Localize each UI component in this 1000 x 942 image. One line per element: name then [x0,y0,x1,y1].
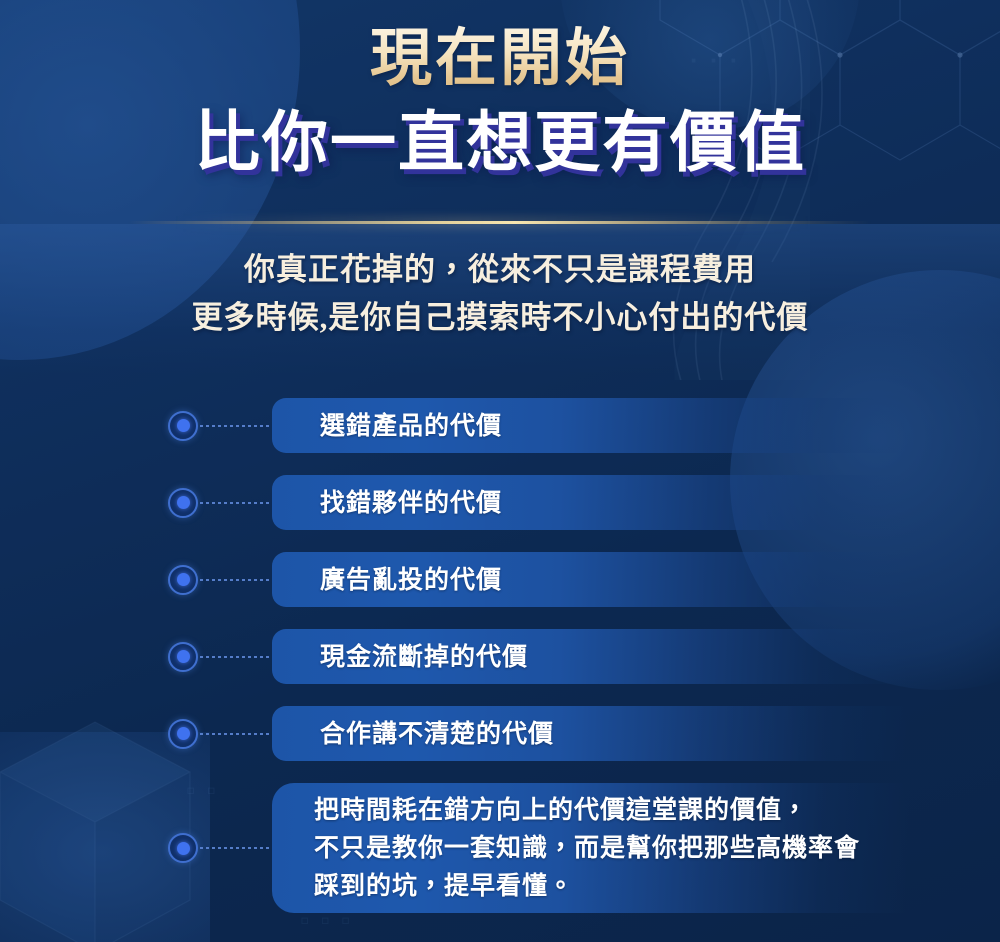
bullet-dot-icon [168,719,198,749]
connector-line [200,733,272,735]
connector-line [200,847,272,849]
connector-line [200,502,272,504]
list-item-pill[interactable]: 廣告亂投的代價 [272,552,926,607]
bullet-dot-icon [168,642,198,672]
connector-line [200,425,272,427]
bullet-dot-icon [168,565,198,595]
subheadline-line-2: 更多時候,是你自己摸索時不小心付出的代價 [0,294,1000,342]
list-item-pill[interactable]: 現金流斷掉的代價 [272,629,926,684]
cost-list: 選錯產品的代價 找錯夥伴的代價 廣告亂投的代價 現金流斷掉的代價 [0,398,1000,913]
list-item: 廣告亂投的代價 [0,552,1000,607]
list-item: 合作講不清楚的代價 [0,706,1000,761]
headline-white-line: 比你一直想更有價值 [0,102,1000,182]
list-item-label: 合作講不清楚的代價 [272,717,554,751]
bullet-dot-icon [168,411,198,441]
subheadline-block: 你真正花掉的，從來不只是課程費用 更多時候,是你自己摸索時不小心付出的代價 [0,246,1000,342]
bullet-dot-icon [168,833,198,863]
divider-glow [128,216,872,229]
bullet-dot-icon [168,488,198,518]
list-item: 找錯夥伴的代價 [0,475,1000,530]
list-item-label: 廣告亂投的代價 [272,563,502,597]
connector-line [200,656,272,658]
list-item: 選錯產品的代價 [0,398,1000,453]
list-item-label: 選錯產品的代價 [272,409,502,443]
promo-poster: · · · ▫ ▫ ▫ ▫ ▫ 現在開始 比你一直想更有價值 你真正花掉的，從來… [0,0,1000,942]
list-item-pill[interactable]: 合作講不清楚的代價 [272,706,926,761]
list-item-pill[interactable]: 把時間耗在錯方向上的代價這堂課的價值， 不只是教你一套知識，而是幫你把那些高機率… [272,783,926,913]
list-item-label: 把時間耗在錯方向上的代價這堂課的價值， 不只是教你一套知識，而是幫你把那些高機率… [272,791,860,905]
connector-line [200,579,272,581]
subheadline-line-1: 你真正花掉的，從來不只是課程費用 [0,246,1000,294]
list-item-pill[interactable]: 找錯夥伴的代價 [272,475,926,530]
list-item: 現金流斷掉的代價 [0,629,1000,684]
headline-gold-line: 現在開始 [0,22,1000,96]
headline-block: 現在開始 比你一直想更有價值 [0,22,1000,182]
list-item-label: 找錯夥伴的代價 [272,486,502,520]
list-item-pill[interactable]: 選錯產品的代價 [272,398,926,453]
list-item: 把時間耗在錯方向上的代價這堂課的價值， 不只是教你一套知識，而是幫你把那些高機率… [0,783,1000,913]
list-item-label: 現金流斷掉的代價 [272,640,528,674]
gold-divider [128,221,872,224]
